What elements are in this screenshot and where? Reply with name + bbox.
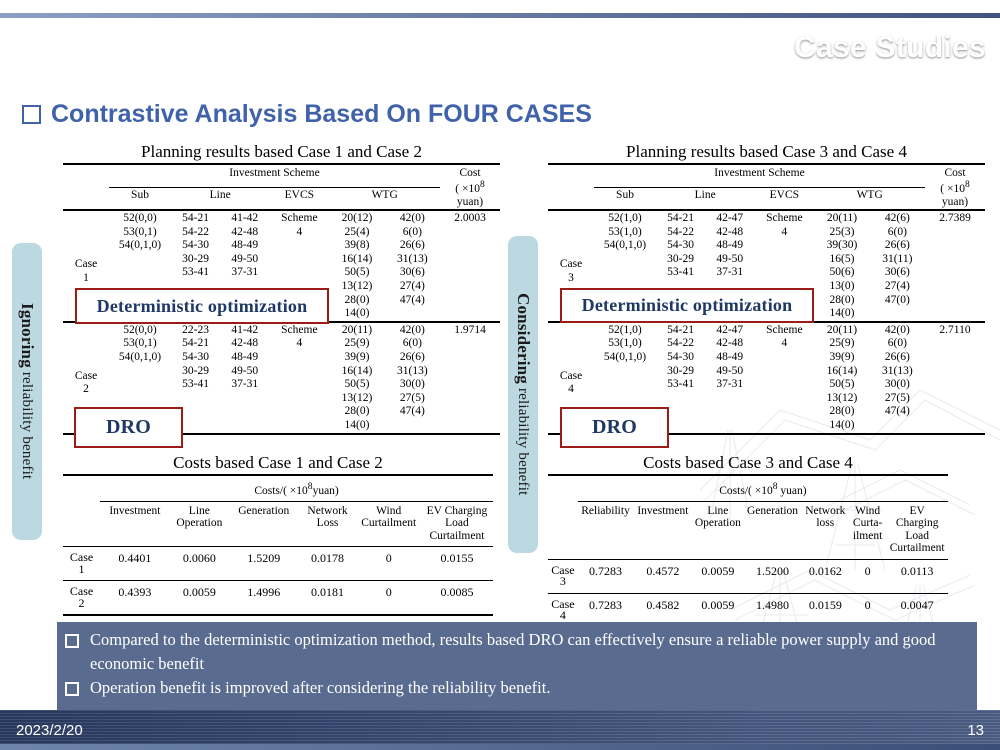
planning-left-case1-wtg-a: 20(12) 25(4) 39(8) 16(14) 50(5) 13(12) 2…	[329, 210, 384, 322]
cost-right-case3-line-operation: 0.0059	[693, 559, 744, 593]
conclusion-item-1: Compared to the deterministic optimizati…	[65, 628, 967, 676]
cost-left-col-network-loss: Network Loss	[299, 501, 357, 547]
cost-right-case3-investment: 0.4572	[633, 559, 692, 593]
side-label-considering-reliability: Considering reliability benefit	[508, 236, 538, 553]
planning-left-cost-header: Cost ( ×108 yuan)	[440, 164, 500, 210]
square-bullet-icon	[65, 634, 79, 648]
cost-right-col-generation: Generation	[743, 501, 801, 559]
planning-right-caption: Planning results based Case 3 and Case 4	[548, 142, 985, 162]
cost-right-case3-label: Case3	[548, 559, 578, 593]
planning-left-case2-evcs: Scheme 4	[269, 322, 329, 434]
cost-left-case2-ev-curtailment: 0.0085	[421, 581, 493, 616]
planning-left-col-evcs: EVCS	[269, 188, 329, 210]
cost-left-col-wind-curtailment: Wind Curtailment	[357, 501, 421, 547]
cost-table-right: Costs based Case 3 and Case 4 Costs/( ×1…	[548, 453, 948, 629]
cost-left-row-case1: Case1 0.4401 0.0060 1.5209 0.0178 0 0.01…	[63, 547, 493, 581]
planning-right-case3-wtg-b: 42(6) 6(0) 26(6) 31(11) 30(6) 27(4) 47(0…	[870, 210, 925, 322]
planning-right-case3-cost: 2.7389	[925, 210, 985, 322]
planning-right-case4-cost: 2.7110	[925, 322, 985, 434]
planning-right-col-sub: Sub	[594, 188, 656, 210]
planning-left-group-header: Investment Scheme	[109, 164, 440, 188]
cost-left-case2-label: Case2	[63, 581, 100, 616]
cost-left-col-generation: Generation	[229, 501, 299, 547]
section-heading-text: Contrastive Analysis Based On FOUR CASES	[51, 100, 592, 129]
side-label-right-rest: reliability benefit	[515, 384, 531, 495]
cost-left-case1-wind-curtailment: 0	[357, 547, 421, 581]
cost-right-case3-reliability: 0.7283	[578, 559, 633, 593]
planning-left-caption: Planning results based Case 1 and Case 2	[63, 142, 500, 162]
cost-right-caption: Costs based Case 3 and Case 4	[548, 453, 948, 473]
cost-right-col-investment: Investment	[633, 501, 692, 559]
side-label-ignoring-reliability: Ignoring reliability benefit	[12, 243, 42, 540]
banner-top-strip	[0, 13, 1000, 18]
cost-right-row-case3: Case3 0.7283 0.4572 0.0059 1.5200 0.0162…	[548, 559, 948, 593]
planning-left-case1-wtg-b: 42(0) 6(0) 26(6) 31(13) 30(6) 27(4) 47(4…	[385, 210, 440, 322]
cost-left-case2-generation: 1.4996	[229, 581, 299, 616]
planning-right-case4-evcs: Scheme 4	[754, 322, 814, 434]
square-bullet-icon	[22, 105, 41, 124]
slide-footer: 2023/2/20 13	[0, 710, 1000, 750]
planning-right-case3-wtg-a: 20(11) 25(3) 39(30) 16(5) 50(6) 13(0) 28…	[814, 210, 869, 322]
cost-right-case3-generation: 1.5200	[743, 559, 801, 593]
callout-dro-right: DRO	[560, 407, 669, 448]
conclusion-item-1-text: Compared to the deterministic optimizati…	[90, 628, 967, 676]
footer-page-number: 13	[967, 722, 984, 739]
cost-left-case1-ev-curtailment: 0.0155	[421, 547, 493, 581]
conclusion-item-2-text: Operation benefit is improved after cons…	[90, 676, 550, 700]
cost-left-col-ev-charging-load-curtailment: EV Charging Load Curtailment	[421, 501, 493, 547]
footer-bottom-strip	[0, 744, 1000, 750]
planning-left-col-sub: Sub	[109, 188, 171, 210]
planning-right-case4-line-b: 42-47 42-48 48-49 49-50 37-31	[705, 322, 754, 434]
side-label-left-strong: Ignoring	[18, 303, 37, 368]
cost-right-case3-ev-curtailment: 0.0113	[886, 559, 948, 593]
conclusion-box: Compared to the deterministic optimizati…	[57, 622, 977, 716]
planning-left-case2-cost: 1.9714	[440, 322, 500, 434]
cost-left-caption: Costs based Case 1 and Case 2	[63, 453, 493, 473]
planning-right-col-evcs: EVCS	[754, 188, 814, 210]
planning-left-case2-wtg-a: 20(11) 25(9) 39(9) 16(14) 50(5) 13(12) 2…	[329, 322, 384, 434]
planning-left-case1-cost: 2.0003	[440, 210, 500, 322]
cost-left-case1-generation: 1.5209	[229, 547, 299, 581]
callout-deterministic-right: Deterministic optimization	[560, 288, 814, 323]
planning-left-col-wtg: WTG	[329, 188, 440, 210]
cost-right-col-wind-curtailment: Wind Curta- ilment	[849, 501, 886, 559]
cost-left-case1-network-loss: 0.0178	[299, 547, 357, 581]
section-heading: Contrastive Analysis Based On FOUR CASES	[22, 100, 592, 129]
cost-right-col-network-loss: Network loss	[802, 501, 849, 559]
callout-deterministic-left: Deterministic optimization	[75, 288, 329, 324]
cost-right-col-ev-charging-load-curtailment: EV Charging Load Curtailment	[886, 501, 948, 559]
slide-title-banner: Case Studies	[0, 18, 1000, 78]
cost-right-case3-network-loss: 0.0162	[802, 559, 849, 593]
cost-left-case1-line-operation: 0.0060	[170, 547, 229, 581]
callout-dro-left: DRO	[74, 407, 183, 448]
cost-left-case2-wind-curtailment: 0	[357, 581, 421, 616]
planning-right-col-wtg: WTG	[814, 188, 925, 210]
cost-left-case1-investment: 0.4401	[100, 547, 170, 581]
slide-title: Case Studies	[794, 31, 986, 65]
cost-table-left: Costs based Case 1 and Case 2 Costs/( ×1…	[63, 453, 493, 616]
planning-left-case2-wtg-b: 42(0) 6(0) 26(6) 31(13) 30(0) 27(5) 47(4…	[385, 322, 440, 434]
conclusion-item-2: Operation benefit is improved after cons…	[65, 676, 967, 700]
planning-left-col-line: Line	[171, 188, 269, 210]
planning-right-case4-wtg-a: 20(11) 25(9) 39(9) 16(14) 50(5) 13(12) 2…	[814, 322, 869, 434]
cost-right-col-line-operation: Line Operation	[693, 501, 744, 559]
footer-date: 2023/2/20	[16, 722, 83, 739]
cost-left-case2-network-loss: 0.0181	[299, 581, 357, 616]
cost-left-col-line-operation: Line Operation	[170, 501, 229, 547]
planning-right-col-line: Line	[656, 188, 754, 210]
planning-right-case4-wtg-b: 42(0) 6(0) 26(6) 31(13) 30(0) 27(5) 47(4…	[870, 322, 925, 434]
cost-left-case2-investment: 0.4393	[100, 581, 170, 616]
cost-left-row-case2: Case2 0.4393 0.0059 1.4996 0.0181 0 0.00…	[63, 581, 493, 616]
cost-right-col-reliability: Reliability	[578, 501, 633, 559]
cost-right-unit-header: Costs/( ×108 yuan)	[578, 475, 948, 501]
side-label-right-strong: Considering	[514, 293, 533, 384]
side-label-left-rest: reliability benefit	[19, 368, 35, 479]
cost-left-case1-label: Case1	[63, 547, 100, 581]
cost-left-unit-header: Costs/( ×108yuan)	[100, 475, 493, 501]
planning-right-cost-header: Cost ( ×108 yuan)	[925, 164, 985, 210]
planning-left-case2-line-b: 41-42 42-48 48-49 49-50 37-31	[220, 322, 269, 434]
cost-right-case3-wind-curtailment: 0	[849, 559, 886, 593]
cost-left-col-investment: Investment	[100, 501, 170, 547]
square-bullet-icon	[65, 682, 79, 696]
cost-left-case2-line-operation: 0.0059	[170, 581, 229, 616]
planning-right-group-header: Investment Scheme	[594, 164, 925, 188]
